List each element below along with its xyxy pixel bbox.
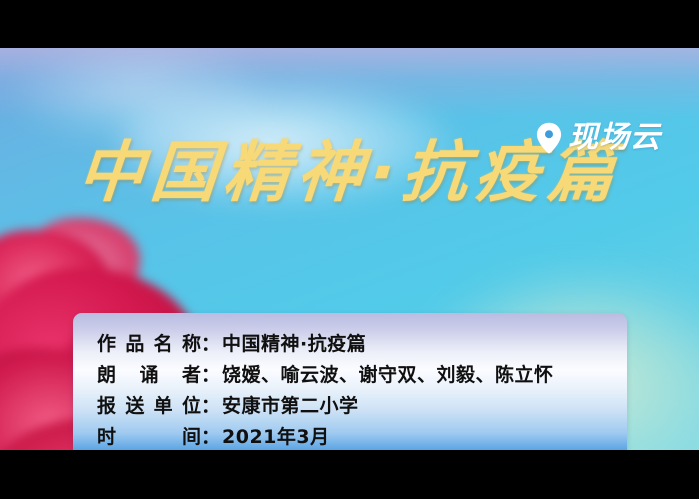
- info-value: 安康市第二小学: [222, 391, 617, 418]
- location-pin-icon: [536, 122, 562, 154]
- info-row-date: 时间 ： 2021年3月: [97, 422, 617, 450]
- slide-canvas: 现场云 中国精神·抗疫篇 作品名称 ： 中国精神·抗疫篇 朗诵者 ： 饶嫒、喻云…: [0, 48, 699, 450]
- info-colon: ：: [201, 360, 222, 387]
- info-panel: 作品名称 ： 中国精神·抗疫篇 朗诵者 ： 饶嫒、喻云波、谢守双、刘毅、陈立怀 …: [73, 313, 627, 450]
- info-label: 朗诵者: [97, 360, 201, 387]
- info-list: 作品名称 ： 中国精神·抗疫篇 朗诵者 ： 饶嫒、喻云波、谢守双、刘毅、陈立怀 …: [97, 329, 617, 450]
- letterbox-bar-bottom: [0, 450, 699, 499]
- info-colon: ：: [201, 329, 222, 356]
- brand-name: 现场云: [568, 123, 661, 153]
- cloud-decoration-secondary: [20, 48, 260, 138]
- info-value: 饶嫒、喻云波、谢守双、刘毅、陈立怀: [222, 360, 617, 387]
- info-label: 作品名称: [97, 329, 201, 356]
- info-value: 2021年3月: [222, 422, 617, 449]
- sky-haze: [0, 48, 699, 118]
- info-colon: ：: [201, 391, 222, 418]
- letterbox-bar-top: [0, 0, 699, 48]
- info-value: 中国精神·抗疫篇: [222, 329, 617, 356]
- rose-petal: [20, 218, 140, 313]
- info-row-work-title: 作品名称 ： 中国精神·抗疫篇: [97, 329, 617, 360]
- info-row-reciters: 朗诵者 ： 饶嫒、喻云波、谢守双、刘毅、陈立怀: [97, 360, 617, 391]
- info-label: 时间: [97, 422, 201, 449]
- brand-logo: 现场云: [536, 122, 661, 154]
- info-row-organization: 报送单位 ： 安康市第二小学: [97, 391, 617, 422]
- info-label: 报送单位: [97, 391, 201, 418]
- info-colon: ：: [201, 422, 222, 449]
- video-frame: 现场云 中国精神·抗疫篇 作品名称 ： 中国精神·抗疫篇 朗诵者 ： 饶嫒、喻云…: [0, 0, 699, 499]
